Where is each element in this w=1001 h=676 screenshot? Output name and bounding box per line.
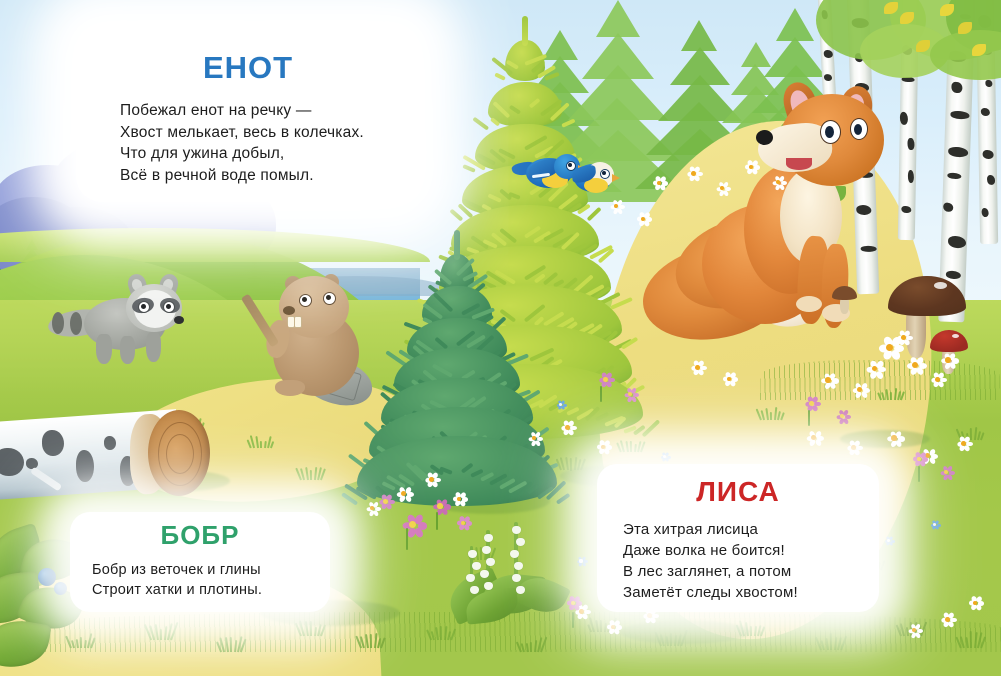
daisy xyxy=(930,372,944,386)
daisy xyxy=(424,472,438,486)
lily-bell xyxy=(512,574,521,582)
spruce-front xyxy=(352,236,562,504)
lily-bell xyxy=(516,538,525,546)
birch-log xyxy=(0,408,225,504)
daisy xyxy=(912,452,926,466)
flower-center xyxy=(973,601,978,606)
flower-center xyxy=(887,539,890,542)
spruce-layer xyxy=(505,40,545,81)
daisy xyxy=(596,440,610,454)
flower-center xyxy=(663,455,666,458)
daisy xyxy=(836,410,849,423)
mushroom-path xyxy=(832,286,858,314)
daisy xyxy=(598,372,612,386)
flower-center xyxy=(383,499,388,504)
panel-beaver-title: БОБР xyxy=(70,520,330,551)
illustration-page: ЕНОТ Побежал енот на речку — Хвост мельк… xyxy=(0,0,1001,676)
daisy xyxy=(896,330,910,344)
flower-center xyxy=(961,441,966,446)
daisy xyxy=(396,486,411,501)
spruce-needle xyxy=(586,207,601,222)
daisy xyxy=(560,420,574,434)
daisy xyxy=(528,432,541,445)
flower-center xyxy=(601,445,606,450)
daisy xyxy=(432,498,448,514)
daisy xyxy=(624,388,637,401)
bark-mark xyxy=(947,173,961,179)
daisy xyxy=(804,396,818,410)
lily-bell xyxy=(484,534,493,542)
bark-mark xyxy=(823,50,832,58)
bark-mark xyxy=(948,236,967,248)
lily-bell xyxy=(472,562,481,570)
lily-bell xyxy=(470,586,479,594)
daisy xyxy=(636,212,650,226)
flower-stem xyxy=(808,410,810,426)
flower-center xyxy=(657,181,662,186)
raccoon xyxy=(60,272,200,377)
daisy xyxy=(366,502,379,515)
flower-center xyxy=(917,457,922,462)
daisy xyxy=(452,492,466,506)
spruce-needle xyxy=(462,164,475,173)
flower-center xyxy=(603,377,608,382)
flower-stem xyxy=(600,386,602,402)
daisy xyxy=(846,440,860,454)
daisy xyxy=(722,372,736,386)
bark-mark xyxy=(952,81,963,93)
spruce-needle xyxy=(494,73,506,81)
log-cut-end xyxy=(148,410,210,496)
daisy xyxy=(940,612,954,626)
grass-tuft xyxy=(250,436,276,448)
daisy xyxy=(930,520,939,529)
daisy xyxy=(660,452,669,461)
lily-bell xyxy=(480,570,489,578)
bird-right xyxy=(570,158,624,196)
daisy xyxy=(652,176,666,190)
lily-bell xyxy=(468,550,477,558)
daisy xyxy=(940,352,956,368)
daisy xyxy=(940,466,953,479)
daisy xyxy=(908,624,921,637)
flower-center xyxy=(691,171,696,176)
daisy xyxy=(866,360,883,377)
bark-mark xyxy=(908,138,914,150)
flower-center xyxy=(429,477,434,482)
spruce-layer xyxy=(488,82,561,127)
flower-center xyxy=(851,445,856,450)
panel-fox-title: ЛИСА xyxy=(597,476,879,508)
spruce-needle xyxy=(434,336,448,349)
daisy xyxy=(886,430,902,446)
flower-stem xyxy=(406,528,408,550)
flower-center xyxy=(945,357,950,362)
flower-center xyxy=(945,617,950,622)
lily-bell xyxy=(482,546,491,554)
grass-tuft xyxy=(760,408,786,420)
daisy xyxy=(716,182,729,195)
daisy xyxy=(686,166,700,180)
daisy xyxy=(566,596,580,610)
daisy xyxy=(744,160,758,174)
spruce-needle xyxy=(524,135,547,151)
flower-center xyxy=(579,559,582,562)
lily-bell xyxy=(512,526,521,534)
spruce-needle xyxy=(567,406,581,415)
lily-bell xyxy=(516,586,525,594)
flower-center xyxy=(727,377,732,382)
flower-center xyxy=(935,377,940,382)
daisy xyxy=(610,200,623,213)
flower-center xyxy=(559,403,562,406)
flower-stem xyxy=(436,512,438,530)
flower-center xyxy=(749,165,754,170)
flower-center xyxy=(641,217,646,222)
panel-beaver-text: Бобр из веточек и глины Строит хатки и п… xyxy=(92,560,330,600)
bark-mark xyxy=(981,208,989,218)
daisy xyxy=(806,430,821,445)
daisy xyxy=(820,372,836,388)
spruce-needle xyxy=(487,193,502,203)
spruce-needle xyxy=(529,98,541,109)
daisy xyxy=(906,356,924,374)
daisy xyxy=(690,360,704,374)
flower-center xyxy=(461,521,466,526)
panel-beaver: БОБР Бобр из веточек и глины Строит хатк… xyxy=(70,512,330,612)
flower-center xyxy=(901,335,906,340)
daisy xyxy=(556,400,565,409)
daisy xyxy=(576,556,586,566)
bark-mark xyxy=(943,203,953,212)
bark-mark xyxy=(981,108,991,116)
spruce-needle xyxy=(508,104,520,114)
panel-raccoon-text: Побежал енот на речку — Хвост мелькает, … xyxy=(120,100,420,186)
flower-center xyxy=(809,401,814,406)
bark-mark xyxy=(982,149,994,159)
panel-fox: ЛИСА Эта хитрая лисица Даже волка не бои… xyxy=(597,464,879,612)
daisy xyxy=(968,596,982,610)
panel-fox-text: Эта хитрая лисица Даже волка не боится! … xyxy=(623,519,879,603)
daisy xyxy=(884,536,893,545)
flower-center xyxy=(933,523,936,526)
flower-center xyxy=(647,613,652,618)
lily-bell xyxy=(486,558,495,566)
flower-center xyxy=(825,377,830,382)
flower-center xyxy=(571,601,576,606)
flower-center xyxy=(872,366,878,372)
panel-raccoon: ЕНОТ Побежал енот на речку — Хвост мельк… xyxy=(76,24,420,202)
spruce-needle xyxy=(473,116,490,130)
flower-center xyxy=(891,435,896,440)
lily-of-the-valley xyxy=(440,520,580,630)
flower-center xyxy=(437,503,442,508)
flower-stem xyxy=(572,612,574,628)
beaver xyxy=(245,268,375,408)
spruce-needle xyxy=(433,292,454,312)
flower-center xyxy=(409,521,416,528)
flower-center xyxy=(912,362,918,368)
flower-center xyxy=(611,625,616,630)
daisy xyxy=(606,620,620,634)
spruce-crown xyxy=(454,230,460,260)
flower-center xyxy=(886,344,894,352)
bark-mark xyxy=(985,80,992,87)
spruce-needle xyxy=(493,101,511,118)
bark-mark xyxy=(900,112,908,124)
lily-bell xyxy=(466,574,475,582)
flower-stem xyxy=(918,466,920,482)
flower-center xyxy=(695,365,700,370)
lily-bell xyxy=(510,550,519,558)
daisy xyxy=(956,436,970,450)
daisy xyxy=(772,176,785,189)
daisy xyxy=(378,494,392,508)
flower-center xyxy=(579,609,584,614)
daisy xyxy=(456,516,470,530)
bark-mark xyxy=(908,170,914,183)
daisy xyxy=(852,382,867,397)
flower-center xyxy=(565,425,570,430)
spruce-crown xyxy=(522,16,528,46)
fox xyxy=(640,68,890,368)
spruce-needle xyxy=(432,364,453,378)
bark-mark xyxy=(948,147,969,158)
flower-center xyxy=(457,497,462,502)
grass-tuft xyxy=(300,467,326,480)
panel-raccoon-title: ЕНОТ xyxy=(76,50,420,86)
spruce-needle xyxy=(489,116,500,126)
bark-mark xyxy=(950,111,969,119)
lily-bell xyxy=(484,582,493,590)
bark-mark xyxy=(902,206,912,213)
spruce-needle xyxy=(561,118,576,128)
bark-mark xyxy=(987,175,995,185)
lily-bell xyxy=(514,562,523,570)
